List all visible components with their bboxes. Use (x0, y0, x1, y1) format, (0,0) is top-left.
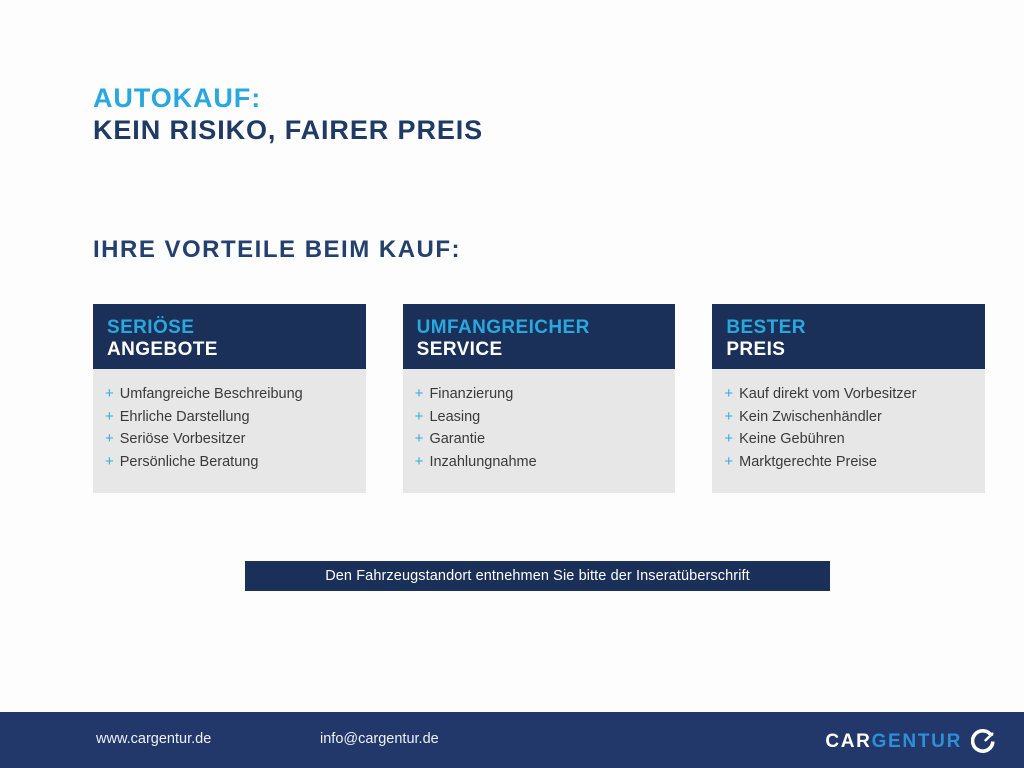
cargentur-c-mark-icon (971, 729, 996, 754)
benefit-card-angebote: SERIÖSE ANGEBOTE + Umfangreiche Beschrei… (93, 304, 366, 493)
list-item-label: Kauf direkt vom Vorbesitzer (739, 384, 916, 406)
list-item-label: Seriöse Vorbesitzer (120, 429, 246, 451)
plus-icon: + (105, 428, 114, 450)
benefit-list: + Kauf direkt vom Vorbesitzer + Kein Zwi… (724, 383, 973, 473)
plus-icon: + (105, 383, 114, 405)
list-item: + Leasing (415, 406, 664, 429)
plus-icon: + (105, 451, 114, 473)
plus-icon: + (415, 451, 424, 473)
plus-icon: + (724, 406, 733, 428)
plus-icon: + (415, 383, 424, 405)
footer-email-link[interactable]: info@cargentur.de (320, 731, 439, 747)
card-body-preis: + Kauf direkt vom Vorbesitzer + Kein Zwi… (712, 369, 985, 493)
plus-icon: + (724, 451, 733, 473)
logo-text-car: CAR (825, 731, 871, 753)
slide-canvas: AUTOKAUF: KEIN RISIKO, FAIRER PREIS IHRE… (0, 0, 1024, 768)
plus-icon: + (415, 428, 424, 450)
list-item: + Keine Gebühren (724, 428, 973, 451)
list-item: + Ehrliche Darstellung (105, 406, 354, 429)
list-item-label: Persönliche Beratung (120, 452, 259, 474)
list-item-label: Finanzierung (429, 384, 513, 406)
plus-icon: + (105, 406, 114, 428)
location-notice-text: Den Fahrzeugstandort entnehmen Sie bitte… (325, 568, 750, 584)
list-item-label: Umfangreiche Beschreibung (120, 384, 303, 406)
benefit-list: + Finanzierung + Leasing + Garantie + In… (415, 383, 664, 473)
list-item-label: Inzahlungnahme (429, 452, 536, 474)
benefit-list: + Umfangreiche Beschreibung + Ehrliche D… (105, 383, 354, 473)
page-title: AUTOKAUF: KEIN RISIKO, FAIRER PREIS (93, 83, 483, 146)
list-item: + Garantie (415, 428, 664, 451)
location-notice-banner: Den Fahrzeugstandort entnehmen Sie bitte… (245, 561, 830, 591)
headline-line-1: AUTOKAUF: (93, 83, 483, 115)
plus-icon: + (724, 428, 733, 450)
list-item: + Persönliche Beratung (105, 451, 354, 474)
card-header-preis: BESTER PREIS (712, 304, 985, 369)
card-body-service: + Finanzierung + Leasing + Garantie + In… (403, 369, 676, 493)
card-title: PREIS (726, 339, 971, 362)
card-title: ANGEBOTE (107, 339, 352, 362)
list-item-label: Leasing (429, 407, 480, 429)
logo-text-gentur: GENTUR (872, 731, 962, 753)
section-subheading: IHRE VORTEILE BEIM KAUF: (93, 236, 461, 264)
plus-icon: + (415, 406, 424, 428)
card-kicker: SERIÖSE (107, 317, 352, 339)
card-kicker: UMFANGREICHER (417, 317, 662, 339)
benefit-card-service: UMFANGREICHER SERVICE + Finanzierung + L… (403, 304, 676, 493)
card-header-angebote: SERIÖSE ANGEBOTE (93, 304, 366, 369)
list-item: + Marktgerechte Preise (724, 451, 973, 474)
list-item: + Finanzierung (415, 383, 664, 406)
footer-website-link[interactable]: www.cargentur.de (96, 731, 211, 747)
list-item: + Inzahlungnahme (415, 451, 664, 474)
list-item-label: Marktgerechte Preise (739, 452, 877, 474)
list-item-label: Keine Gebühren (739, 429, 845, 451)
list-item: + Kein Zwischenhändler (724, 406, 973, 429)
list-item: + Umfangreiche Beschreibung (105, 383, 354, 406)
benefit-cards: SERIÖSE ANGEBOTE + Umfangreiche Beschrei… (93, 304, 985, 493)
list-item-label: Kein Zwischenhändler (739, 407, 882, 429)
headline-line-2: KEIN RISIKO, FAIRER PREIS (93, 115, 483, 147)
benefit-card-preis: BESTER PREIS + Kauf direkt vom Vorbesitz… (712, 304, 985, 493)
card-header-service: UMFANGREICHER SERVICE (403, 304, 676, 369)
plus-icon: + (724, 383, 733, 405)
list-item: + Seriöse Vorbesitzer (105, 428, 354, 451)
list-item-label: Garantie (429, 429, 485, 451)
card-body-angebote: + Umfangreiche Beschreibung + Ehrliche D… (93, 369, 366, 493)
card-title: SERVICE (417, 339, 662, 362)
footer-bar: www.cargentur.de info@cargentur.de CAR G… (0, 712, 1024, 768)
cargentur-logo: CAR GENTUR (825, 729, 996, 754)
list-item: + Kauf direkt vom Vorbesitzer (724, 383, 973, 406)
card-kicker: BESTER (726, 317, 971, 339)
list-item-label: Ehrliche Darstellung (120, 407, 250, 429)
